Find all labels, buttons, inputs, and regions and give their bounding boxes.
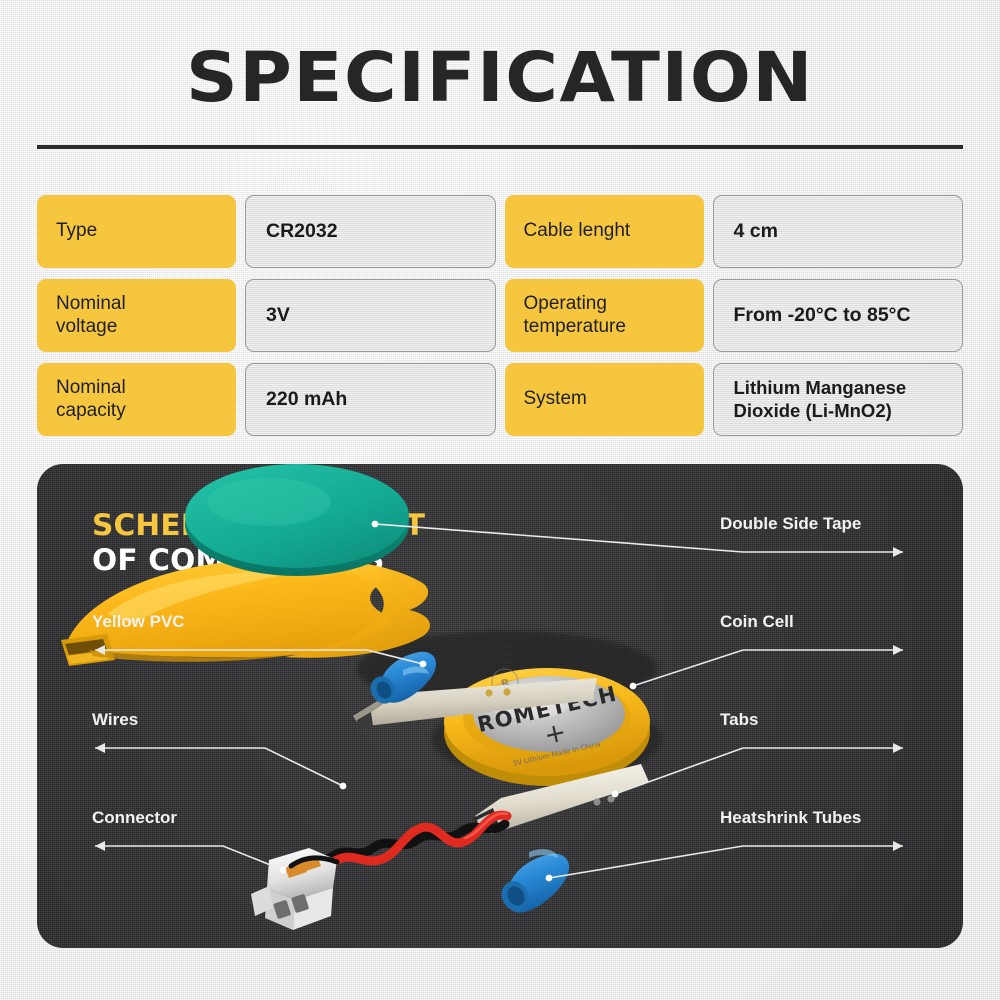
schematic-heading-line1: SCHEMATIC LAYOUT <box>92 508 425 543</box>
page-title: SPECIFICATION <box>0 44 1000 113</box>
heatshrink-tube-lower <box>496 849 569 915</box>
spec-table: Type CR2032 Cable lenght 4 cm Nominal vo… <box>37 195 963 436</box>
coin-cell-brand-text: ROMETECH <box>475 681 620 737</box>
spec-value-nominal-capacity: 220 mAh <box>245 363 496 436</box>
coin-cell-spec-text: 3V Lithium Made in China <box>512 740 601 768</box>
callout-label-yellow-pvc: Yellow PVC <box>92 612 185 632</box>
heatshrink-tube-upper <box>366 652 436 708</box>
pvc-tube-opening <box>61 634 115 666</box>
spec-value-type: CR2032 <box>245 195 496 268</box>
spec-label-nominal-voltage: Nominal voltage <box>37 279 236 352</box>
metal-tab-upper <box>353 678 597 732</box>
schematic-heading: SCHEMATIC LAYOUT OF COMPONENTS <box>92 508 425 579</box>
spec-value-nominal-voltage: 3V <box>245 279 496 352</box>
leader-wires <box>95 748 343 786</box>
coin-cell: ROMETECH + 3V Lithium Made in China R <box>444 666 650 786</box>
spec-label-nominal-capacity: Nominal capacity <box>37 363 236 436</box>
twisted-wires <box>305 814 507 876</box>
spec-value-operating-temperature: From -20°C to 85°C <box>713 279 964 352</box>
schematic-heading-line2: OF COMPONENTS <box>92 543 425 578</box>
metal-tab-lower <box>473 764 649 836</box>
spec-label-system: System <box>505 363 704 436</box>
title-divider <box>37 145 963 149</box>
coin-cell-polarity-text: + <box>541 717 569 751</box>
callout-label-heatshrink-tubes: Heatshrink Tubes <box>720 808 861 828</box>
leader-heatshrink-tubes <box>549 846 903 878</box>
spec-label-operating-temperature: Operating temperature <box>505 279 704 352</box>
leader-yellow-pvc <box>95 650 423 664</box>
schematic-panel: SCHEMATIC LAYOUT OF COMPONENTS <box>37 464 963 948</box>
leader-connector <box>95 846 283 870</box>
spec-value-system: Lithium Manganese Dioxide (Li-MnO2) <box>713 363 964 436</box>
callout-label-double-side-tape: Double Side Tape <box>720 514 861 534</box>
svg-text:R: R <box>500 676 512 691</box>
callout-label-coin-cell: Coin Cell <box>720 612 794 632</box>
shadow-pvc <box>357 631 657 707</box>
callout-label-connector: Connector <box>92 808 177 828</box>
shadow-cell <box>432 699 662 779</box>
leader-coin-cell <box>633 650 903 686</box>
leader-tabs <box>615 748 903 794</box>
spec-value-cable-length: 4 cm <box>713 195 964 268</box>
spec-label-type: Type <box>37 195 236 268</box>
spec-label-cable-length: Cable lenght <box>505 195 704 268</box>
wire-connector <box>251 848 337 930</box>
callout-label-wires: Wires <box>92 710 138 730</box>
callout-label-tabs: Tabs <box>720 710 758 730</box>
